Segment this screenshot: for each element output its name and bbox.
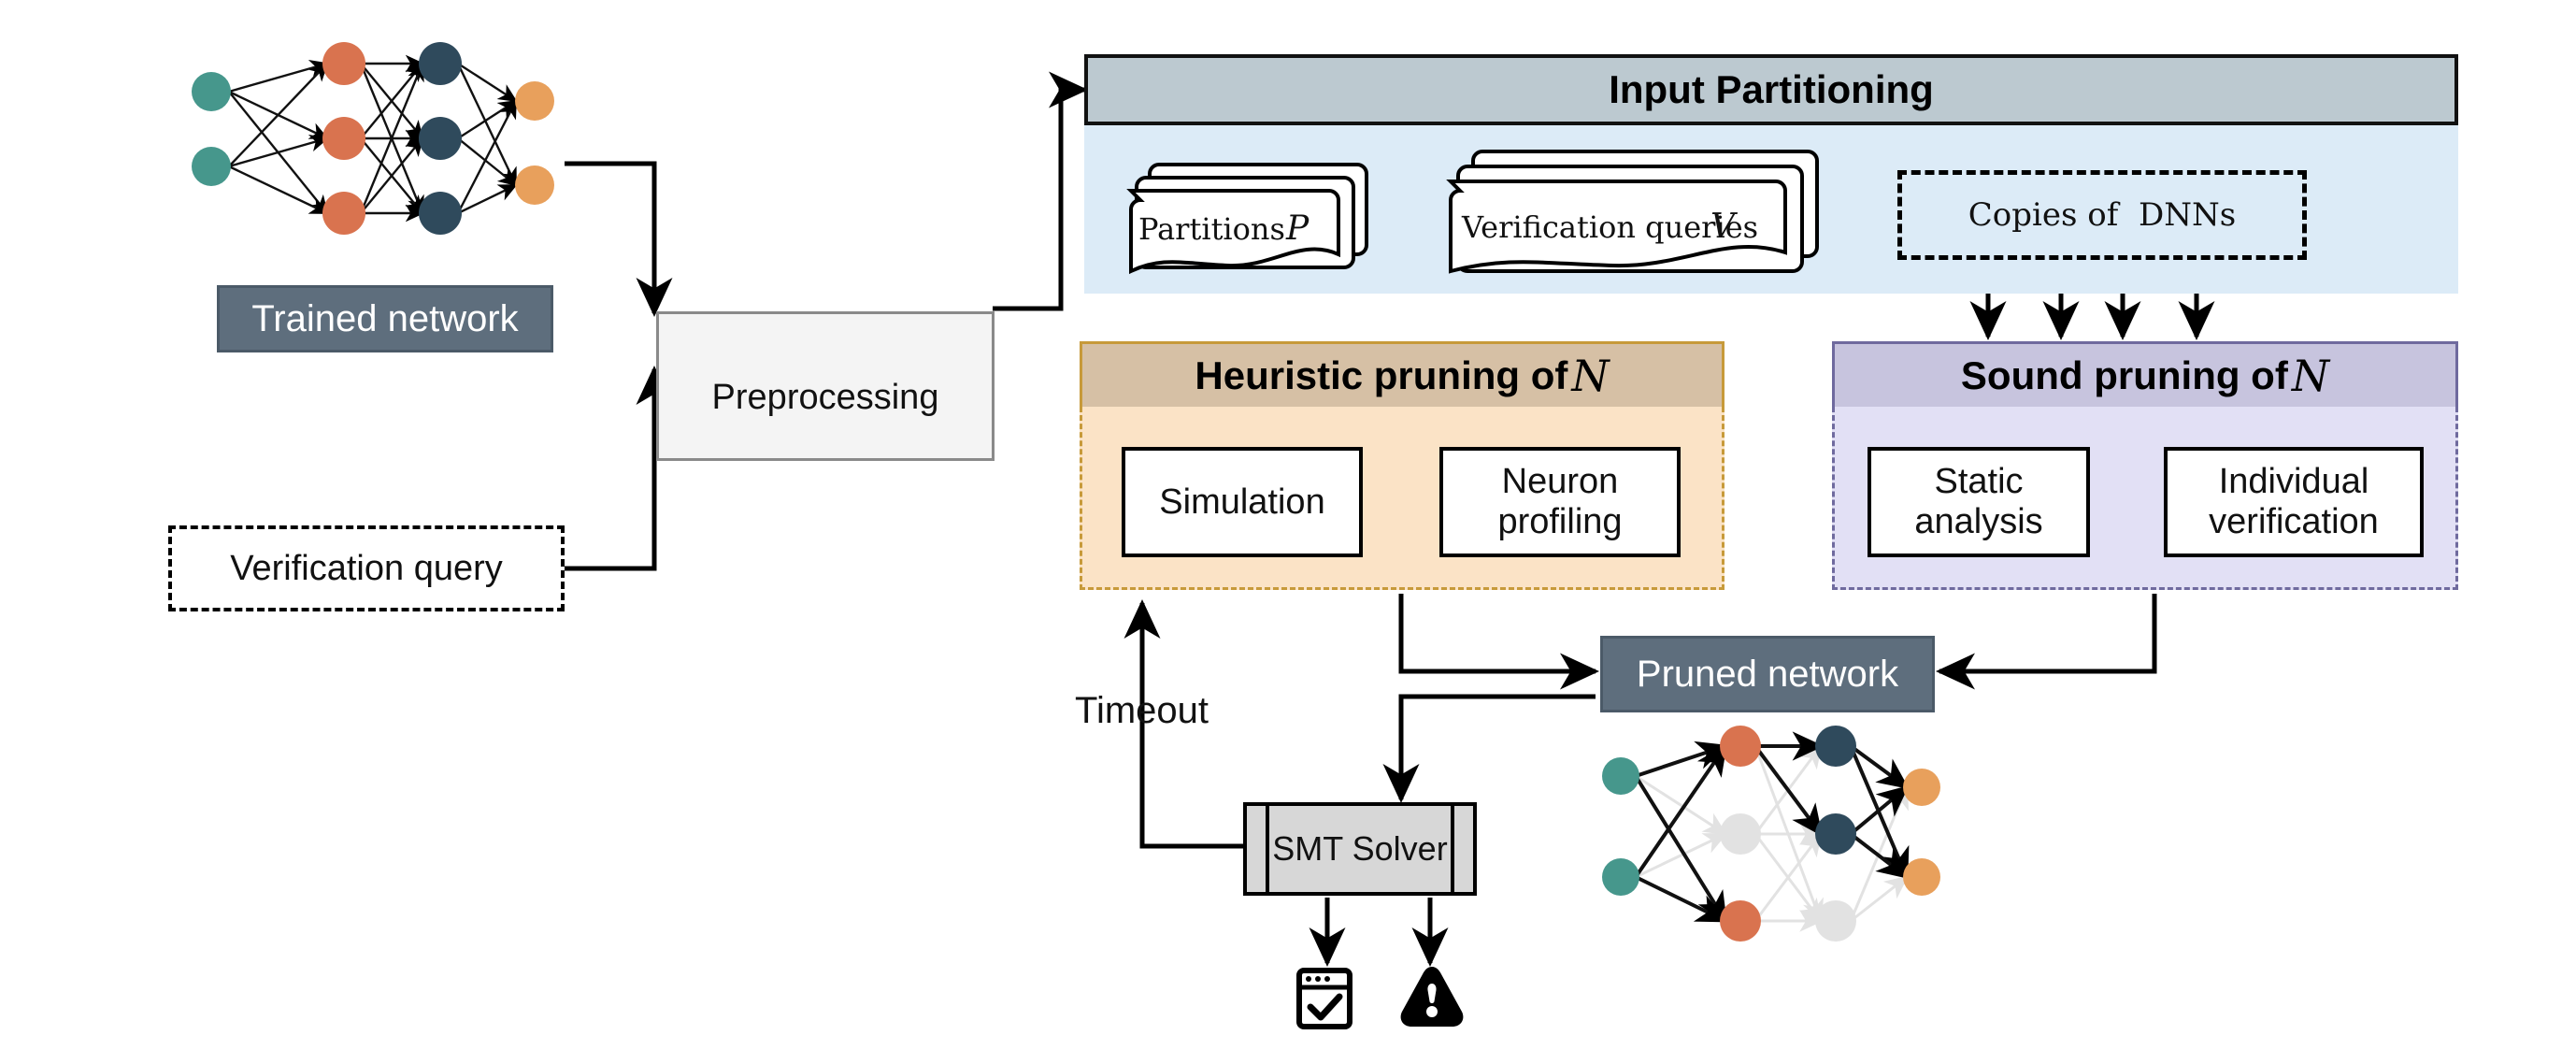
neuron-profiling-line1: Neuron (1502, 462, 1619, 502)
individual-verification-line1: Individual (2219, 462, 2369, 502)
smt-left-bar (1266, 806, 1269, 892)
heuristic-pruning-title-text: Heuristic pruning of (1195, 353, 1567, 398)
preprocessing-box: Preprocessing (656, 311, 995, 461)
edge-preprocessing-to-partitioning (993, 90, 1084, 309)
partitions-label: Partitions (1138, 211, 1285, 247)
preprocessing-label: Preprocessing (712, 378, 939, 418)
window-check-icon (1295, 965, 1359, 1032)
sound-pruning-symbol: N (2288, 351, 2329, 401)
edge-query-to-preprocessing (565, 369, 654, 568)
edge-sound-to-pruned (1939, 594, 2154, 671)
smt-solver-label: SMT Solver (1272, 829, 1447, 869)
heuristic-pruning-header: Heuristic pruning of N (1080, 341, 1724, 407)
sound-pruning-header: Sound pruning of N (1832, 341, 2458, 407)
static-analysis-line1: Static (1934, 462, 2023, 502)
partitions-symbol: P (1285, 209, 1309, 248)
edge-pruned-to-smt (1401, 697, 1596, 799)
static-analysis-line2: analysis (1914, 502, 2042, 542)
trained-network-graphic (178, 28, 570, 252)
warning-triangle-icon (1396, 963, 1467, 1030)
individual-verification-line2: verification (2209, 502, 2379, 542)
copies-of-dnns-box: Copies of DNNs (1897, 170, 2307, 260)
neuron-profiling-box: Neuron profiling (1439, 447, 1681, 557)
input-partitioning-title: Input Partitioning (1609, 67, 1934, 112)
static-analysis-box: Static analysis (1868, 447, 2090, 557)
flow-diagram-canvas: Trained network Verification query Prepr… (0, 0, 2576, 1064)
edge-heuristic-to-pruned (1401, 594, 1596, 671)
pruned-network-label: Pruned network (1637, 654, 1898, 696)
heuristic-pruning-symbol: N (1567, 351, 1609, 401)
sound-pruning-title-text: Sound pruning of (1961, 353, 2288, 398)
individual-verification-box: Individual verification (2164, 447, 2424, 557)
smt-right-bar (1451, 806, 1454, 892)
verification-query-label: Verification query (230, 549, 503, 589)
edge-trained-to-preprocessing (565, 164, 654, 313)
pruned-network-label-box: Pruned network (1600, 636, 1935, 712)
copies-of-dnns-label: Copies of DNNs (1968, 196, 2236, 234)
partitions-stack: Partitions P (1118, 157, 1380, 269)
trained-network-label: Trained network (251, 298, 518, 340)
pruned-network-graphic (1589, 720, 1963, 954)
neuron-profiling-line2: profiling (1497, 502, 1622, 542)
trained-network-label-box: Trained network (217, 285, 553, 352)
queries-stack: Verification queries V (1439, 144, 1841, 271)
simulation-box: Simulation (1122, 447, 1363, 557)
timeout-label: Timeout (1075, 690, 1209, 732)
smt-solver-box: SMT Solver (1243, 802, 1477, 896)
simulation-label: Simulation (1159, 482, 1324, 523)
input-partitioning-header: Input Partitioning (1084, 54, 2458, 125)
verification-query-box: Verification query (168, 525, 565, 611)
queries-symbol: V (1710, 208, 1739, 246)
